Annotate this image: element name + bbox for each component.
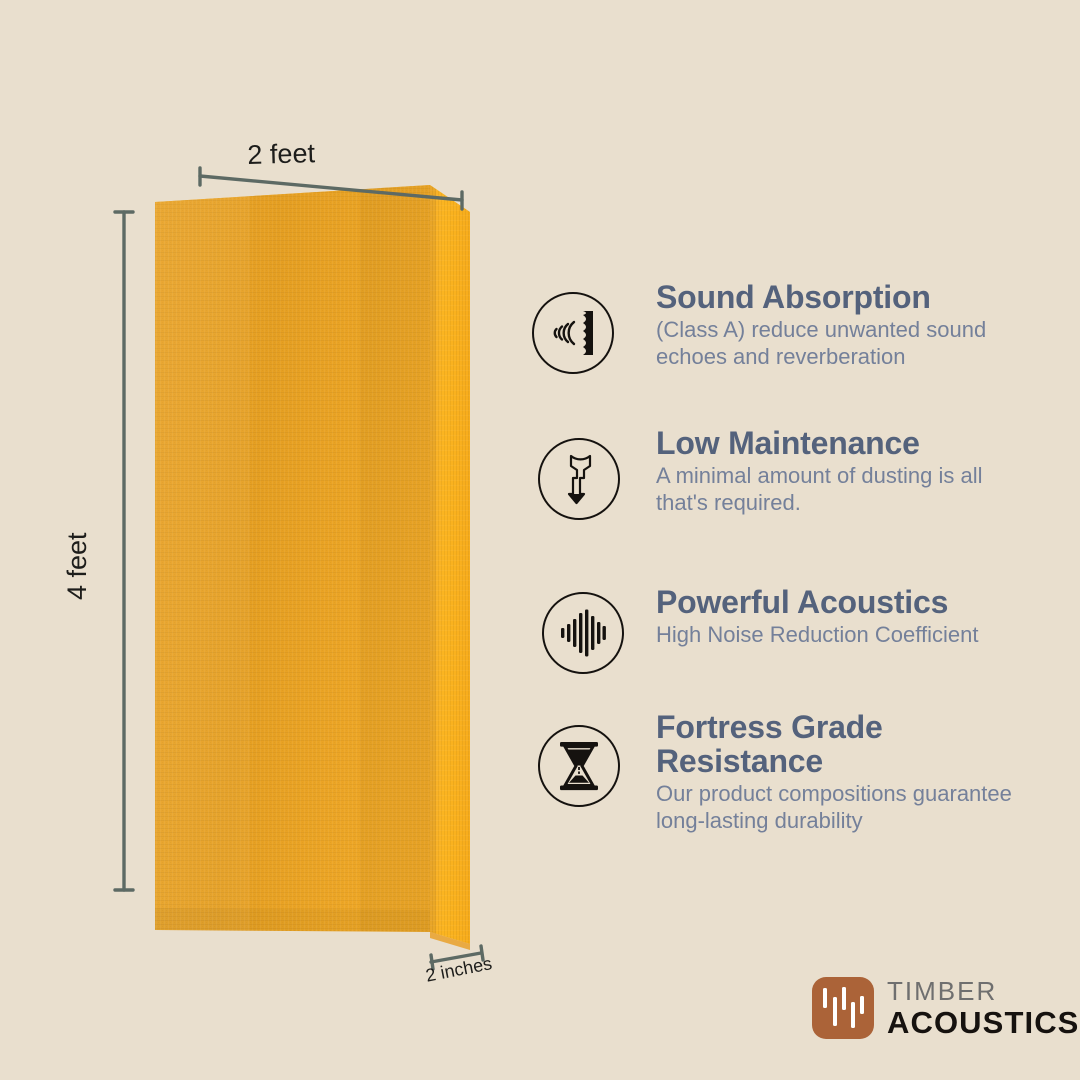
feature-title: Low Maintenance [656,426,1058,460]
panel-front-face [155,185,430,958]
feature-text-block: Fortress Grade Resistance Our product co… [621,710,1058,835]
infographic-canvas: 2 feet 4 feet 2 inches [0,0,1080,1080]
feature-text-block: Sound Absorption (Class A) reduce unwant… [615,280,1058,371]
dimension-label-width: 2 feet [247,138,315,171]
feature-item-fortress-grade-resistance: Fortress Grade Resistance Our product co… [528,710,1058,835]
timber-acoustics-bars-logo [812,977,874,1039]
brand-wordmark: TIMBER ACOUSTICS [887,978,1079,1038]
feature-item-low-maintenance: Low Maintenance A minimal amount of dust… [528,426,1058,521]
dimension-line-height [115,212,133,890]
waveform-icon [541,591,625,675]
feature-description: (Class A) reduce unwanted sound echoes a… [656,317,1028,371]
feature-title: Powerful Acoustics [656,585,1058,619]
brand-name-timber: TIMBER [887,978,1079,1004]
wrench-down-arrow-icon [537,437,621,521]
brand-name-acoustics: ACOUSTICS [887,1007,1079,1038]
feature-item-sound-absorption: Sound Absorption (Class A) reduce unwant… [528,280,1058,375]
dimension-label-height: 4 feet [62,532,93,600]
feature-description: A minimal amount of dusting is all that'… [656,463,1028,517]
feature-item-powerful-acoustics: Powerful Acoustics High Noise Reduction … [528,585,1058,675]
brand-logo[interactable]: TIMBER ACOUSTICS [812,977,1079,1039]
feature-description: High Noise Reduction Coefficient [656,622,1028,649]
feature-text-block: Powerful Acoustics High Noise Reduction … [625,585,1058,649]
feature-title: Sound Absorption [656,280,1058,314]
feature-text-block: Low Maintenance A minimal amount of dust… [621,426,1058,517]
hourglass-icon [537,724,621,808]
sound-absorption-icon [531,291,615,375]
product-illustration: 2 feet 4 feet 2 inches [0,0,520,1080]
feature-description: Our product compositions guarantee long-… [656,781,1028,835]
feature-title: Fortress Grade Resistance [656,710,1058,778]
panel-side-face [430,185,470,944]
